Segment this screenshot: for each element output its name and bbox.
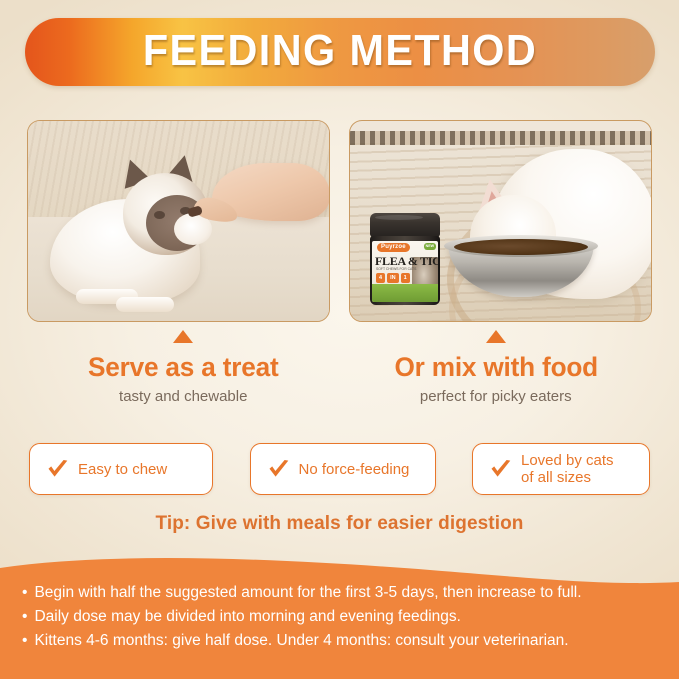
- benefit-pill-easy-to-chew: Easy to chew: [29, 443, 213, 495]
- jar-lid-icon: [370, 213, 440, 237]
- panel1-cat-paw-right: [116, 297, 174, 312]
- photo-panel-mix-with-food: Puyrzoe NEW FLEA & TICK SOFT CHEWS FOR C…: [349, 120, 652, 322]
- jar-body: Puyrzoe NEW FLEA & TICK SOFT CHEWS FOR C…: [370, 236, 440, 305]
- page-title: FEEDING METHOD: [44, 18, 636, 86]
- benefit-pill-label: Loved by cats of all sizes: [521, 452, 614, 486]
- panel1-cat-eye-left: [154, 211, 165, 219]
- panel2-product-jar: Puyrzoe NEW FLEA & TICK SOFT CHEWS FOR C…: [370, 213, 440, 305]
- triangle-up-icon: [173, 330, 193, 343]
- benefit-pill-loved-by-cats: Loved by cats of all sizes: [472, 443, 650, 495]
- heading-title: Serve as a treat: [32, 352, 335, 383]
- triangle-up-icon: [486, 330, 506, 343]
- footer-notes: Begin with half the suggested amount for…: [0, 554, 679, 679]
- footer-bullet-list: Begin with half the suggested amount for…: [22, 581, 665, 653]
- heading-subtitle: tasty and chewable: [27, 388, 340, 405]
- jar-green-band: [372, 284, 438, 302]
- checkmark-icon: [490, 459, 512, 479]
- jar-chip: IN: [387, 273, 399, 283]
- benefit-pill-label: Easy to chew: [78, 461, 167, 478]
- heading-subtitle: perfect for picky eaters: [340, 388, 653, 405]
- jar-chip: 4: [376, 273, 385, 283]
- benefit-pill-label: No force-feeding: [299, 461, 410, 478]
- photo-panel-serve-as-treat: Puyrzoe NEW FLEA & TICK SOFT CHEWS FOR C…: [27, 120, 330, 322]
- header-banner: FEEDING METHOD: [25, 18, 655, 86]
- panel2-rug-fringe: [350, 131, 651, 145]
- heading-group-serve-as-treat: Serve as a treat tasty and chewable: [27, 330, 340, 420]
- heading-title: Or mix with food: [344, 352, 647, 383]
- heading-group-mix-with-food: Or mix with food perfect for picky eater…: [340, 330, 653, 420]
- jar-product-subtitle: SOFT CHEWS FOR CATS: [376, 267, 416, 271]
- checkmark-icon: [47, 459, 69, 479]
- footer-bullet: Begin with half the suggested amount for…: [22, 581, 665, 605]
- feeding-method-infographic: FEEDING METHOD: [0, 0, 679, 679]
- benefit-pill-no-force-feeding: No force-feeding: [250, 443, 436, 495]
- footer-bullet: Kittens 4-6 months: give half dose. Unde…: [22, 629, 665, 653]
- jar-label: Puyrzoe NEW FLEA & TICK SOFT CHEWS FOR C…: [372, 241, 438, 302]
- benefit-pills: Easy to chew No force-feeding Loved by c…: [29, 443, 650, 495]
- footer-bullet: Daily dose may be divided into morning a…: [22, 605, 665, 629]
- jar-chip: 1: [401, 273, 410, 283]
- panel2-bowl-food: [454, 239, 588, 255]
- tip-text: Tip: Give with meals for easier digestio…: [0, 513, 679, 535]
- checkmark-icon: [268, 459, 290, 479]
- jar-brand-name: Puyrzoe: [377, 243, 410, 252]
- photo-panels: Puyrzoe NEW FLEA & TICK SOFT CHEWS FOR C…: [27, 120, 652, 320]
- jar-badge: NEW: [424, 243, 436, 250]
- method-headings: Serve as a treat tasty and chewable Or m…: [27, 330, 652, 420]
- jar-feature-chips: 4 IN 1: [376, 273, 410, 283]
